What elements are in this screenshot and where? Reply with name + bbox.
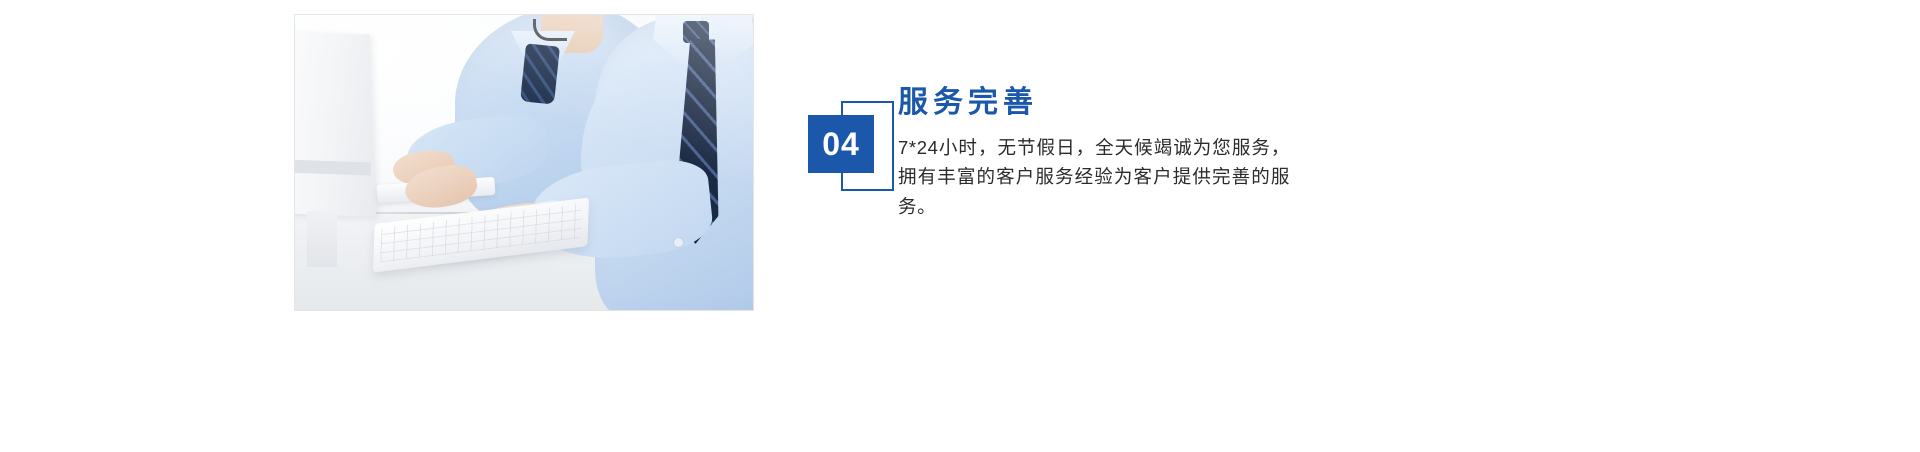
badge-number-label: 04 xyxy=(808,115,874,173)
feature-text-column: 服务完善 7*24小时，无节假日，全天候竭诚为您服务，拥有丰富的客户服务经验为客… xyxy=(898,86,1298,222)
monitor-screen xyxy=(295,31,376,217)
monitor-stand xyxy=(307,211,337,267)
feature-photo xyxy=(295,15,753,310)
feature-banner: 04 服务完善 7*24小时，无节假日，全天候竭诚为您服务，拥有丰富的客户服务经… xyxy=(0,0,1920,452)
feature-number-badge: 04 xyxy=(808,101,894,191)
agent-front-cuff-button xyxy=(673,237,684,248)
monitor-band xyxy=(295,159,371,175)
feature-description: 7*24小时，无节假日，全天候竭诚为您服务，拥有丰富的客户服务经验为客户提供完善… xyxy=(898,133,1290,223)
agent-back-tie xyxy=(520,43,560,104)
feature-photo-frame xyxy=(294,14,754,311)
feature-title: 服务完善 xyxy=(898,86,1298,121)
